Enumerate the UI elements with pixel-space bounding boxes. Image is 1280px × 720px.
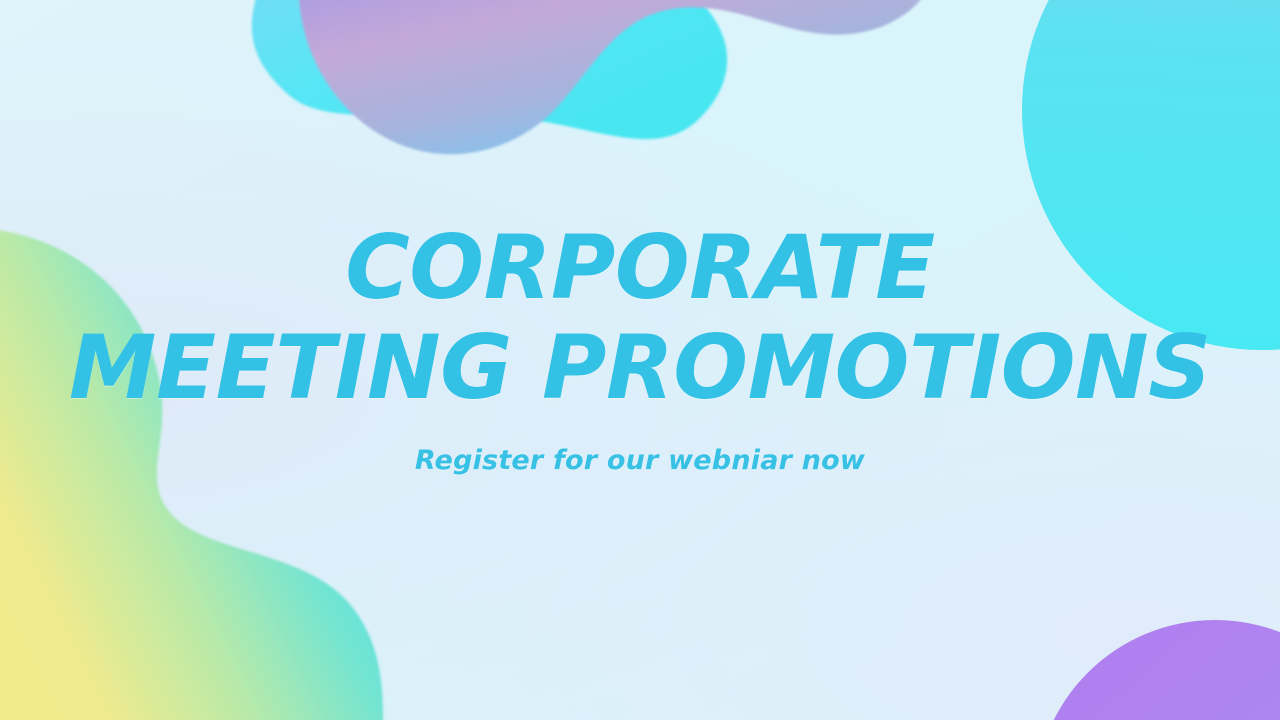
- subtitle-call-to-action: Register for our webniar now: [415, 445, 865, 476]
- page-title: CORPORATE MEETING PROMOTIONS: [69, 220, 1211, 414]
- poster-content: CORPORATE MEETING PROMOTIONS Register fo…: [0, 0, 1280, 720]
- headline-line-1: CORPORATE: [69, 220, 1211, 315]
- promotional-poster: CORPORATE MEETING PROMOTIONS Register fo…: [0, 0, 1280, 720]
- headline-line-2: MEETING PROMOTIONS: [69, 320, 1211, 415]
